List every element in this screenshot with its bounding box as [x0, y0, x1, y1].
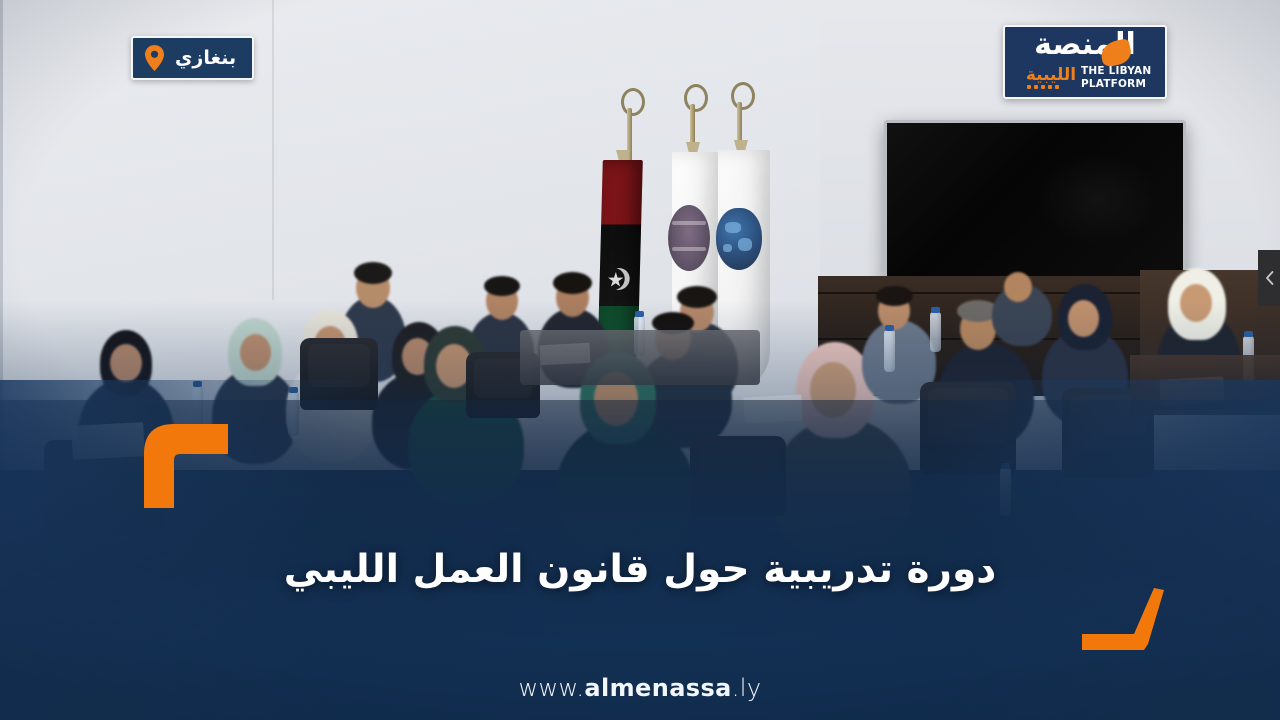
- url-prefix: www.: [519, 674, 585, 702]
- chevron-left-icon: [1265, 271, 1274, 285]
- location-badge[interactable]: بنغازي: [131, 36, 254, 80]
- brand-logo-english-line1: THE LIBYAN: [1081, 65, 1157, 78]
- url-suffix: .ly: [732, 674, 762, 702]
- brand-logo-arabic-primary: المنصة: [1005, 29, 1165, 61]
- website-url[interactable]: www.almenassa.ly: [0, 674, 1280, 702]
- location-label: بنغازي: [175, 49, 236, 68]
- map-pin-icon: [145, 45, 164, 71]
- carousel-prev-button[interactable]: [1258, 250, 1280, 306]
- brand-logo-english: THE LIBYAN PLATFORM: [1081, 65, 1157, 91]
- headline-title: دورة تدريبية حول قانون العمل الليبي: [0, 544, 1280, 597]
- brand-logo[interactable]: المنصة الليبية THE LIBYAN PLATFORM: [1003, 25, 1167, 99]
- media-card-stage: بنغازي المنصة الليبية THE LIBYAN PLATFOR…: [0, 0, 1280, 720]
- brand-logo-arabic-secondary: الليبية: [1015, 67, 1087, 84]
- orange-corner-bracket-top-left: [140, 420, 228, 508]
- brand-logo-english-line2: PLATFORM: [1081, 78, 1157, 91]
- url-brand: almenassa: [584, 674, 731, 702]
- orange-corner-bracket-bottom-right: [1082, 588, 1164, 650]
- logo-dots-decoration: [1027, 85, 1059, 89]
